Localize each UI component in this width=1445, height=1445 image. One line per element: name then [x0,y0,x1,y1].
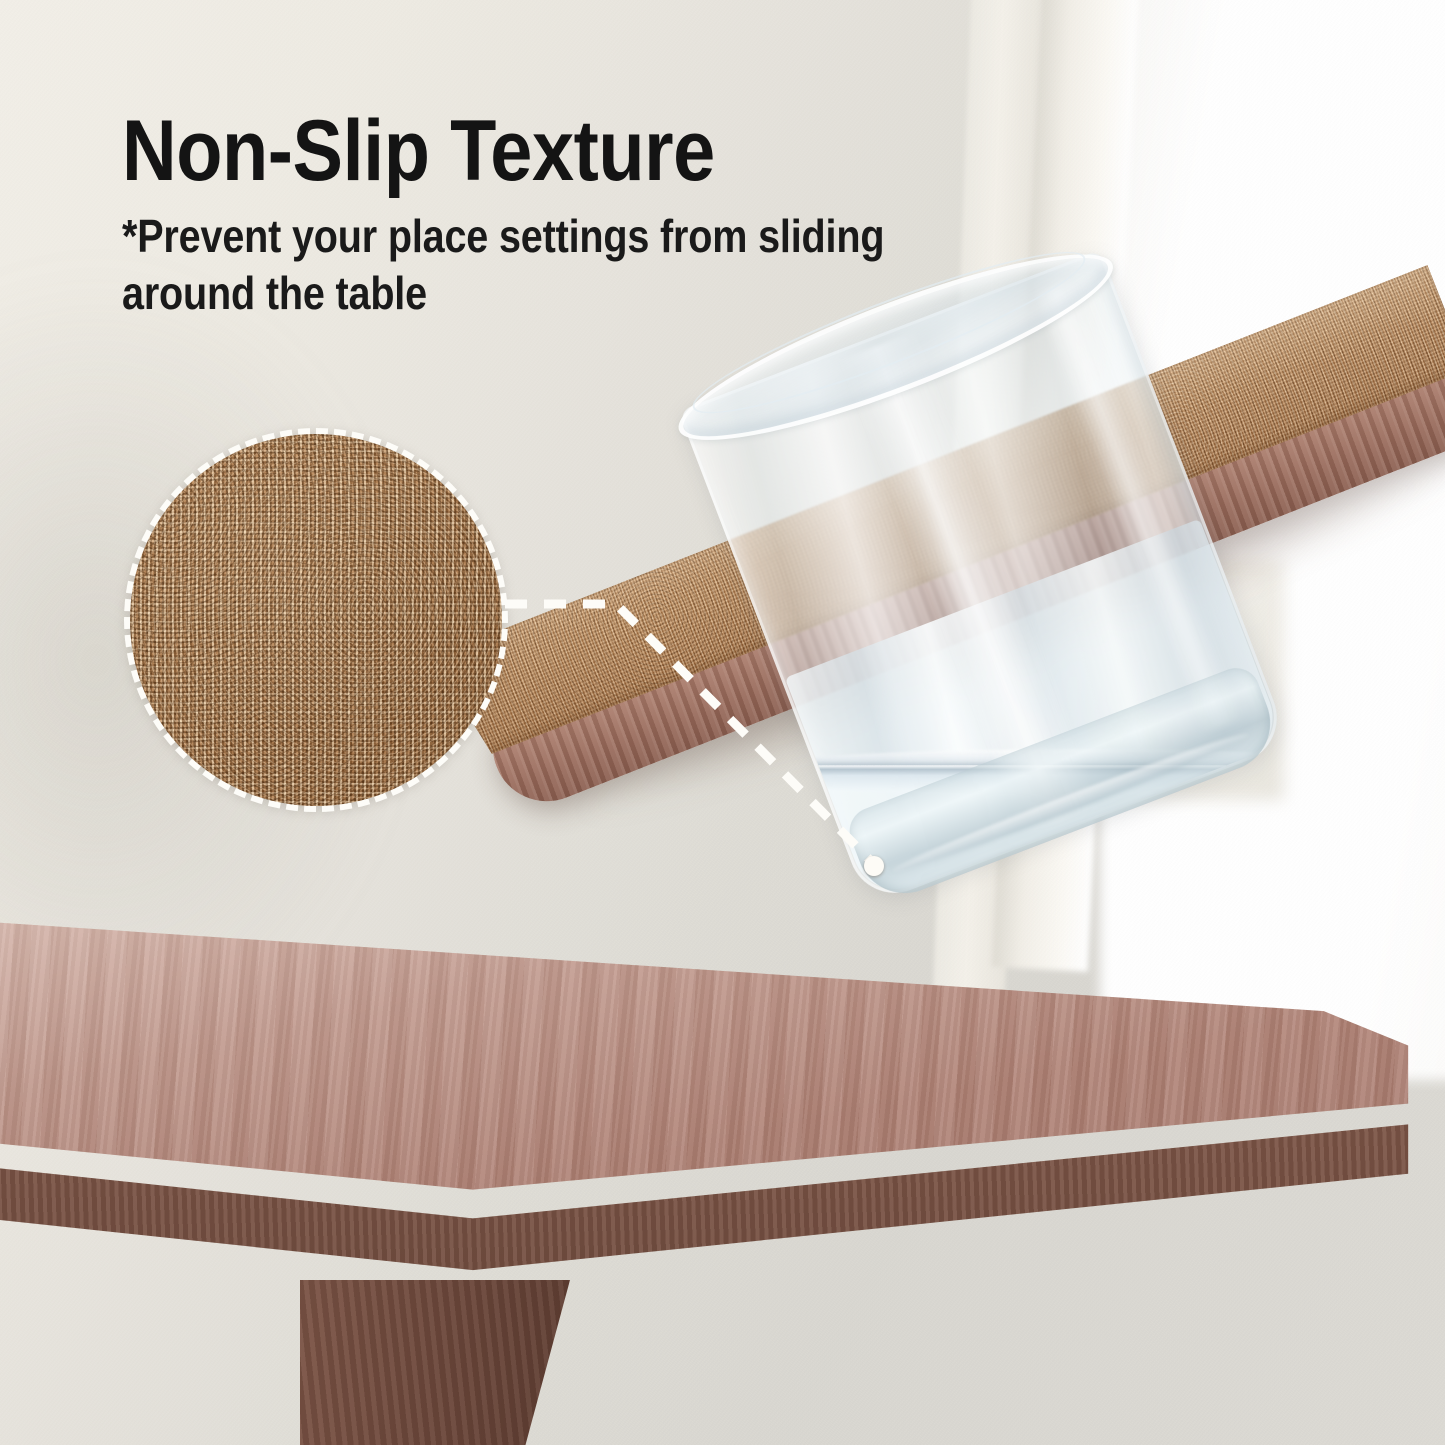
cork-texture-speckle [124,428,508,812]
page-title: Non-Slip Texture [122,108,932,194]
headline-block: Non-Slip Texture *Prevent your place set… [122,108,1042,322]
product-image-canvas: Non-Slip Texture *Prevent your place set… [0,0,1445,1445]
dining-table [0,880,1445,1445]
texture-magnifier-circle [124,428,508,812]
leader-target-dot [864,856,884,876]
table-leg [300,1280,570,1445]
page-subtitle: *Prevent your place settings from slidin… [122,208,913,322]
